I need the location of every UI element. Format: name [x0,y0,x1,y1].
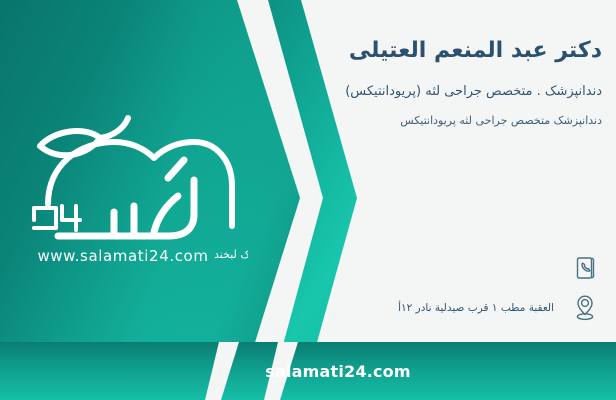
apple-leaf-logo: براحتی یک لبخند [18,108,248,268]
specialty-farsi: دندانپزشک متخصص جراحی لثه پریودانتیکس [222,113,602,130]
contact-list: العقبة مطب ١ قرب صيدلية نادر ١٢أ [222,248,602,328]
contact-row-phone[interactable] [222,248,602,288]
specialty-arabic: دندانپزشک . متخصص جراحی لثه (پریودانتیکس… [222,82,602,102]
contact-row-address[interactable]: العقبة مطب ١ قرب صيدلية نادر ١٢أ [222,288,602,328]
contact-address-label: العقبة مطب ١ قرب صيدلية نادر ١٢أ [222,301,556,316]
brand-logo: براحتی یک لبخند [18,108,248,268]
doctor-name: دكتر عبد المنعم العتيلى [222,36,602,66]
footer-site-label: salamati24.com [0,342,616,400]
logo-url: www.salamati24.com [18,247,228,265]
location-pin-icon [568,291,602,325]
business-card: براحتی یک لبخند www.salamati24.com دكتر … [0,0,616,400]
phone-book-icon [568,251,602,285]
card-content: دكتر عبد المنعم العتيلى دندانپزشک . متخص… [222,0,602,130]
